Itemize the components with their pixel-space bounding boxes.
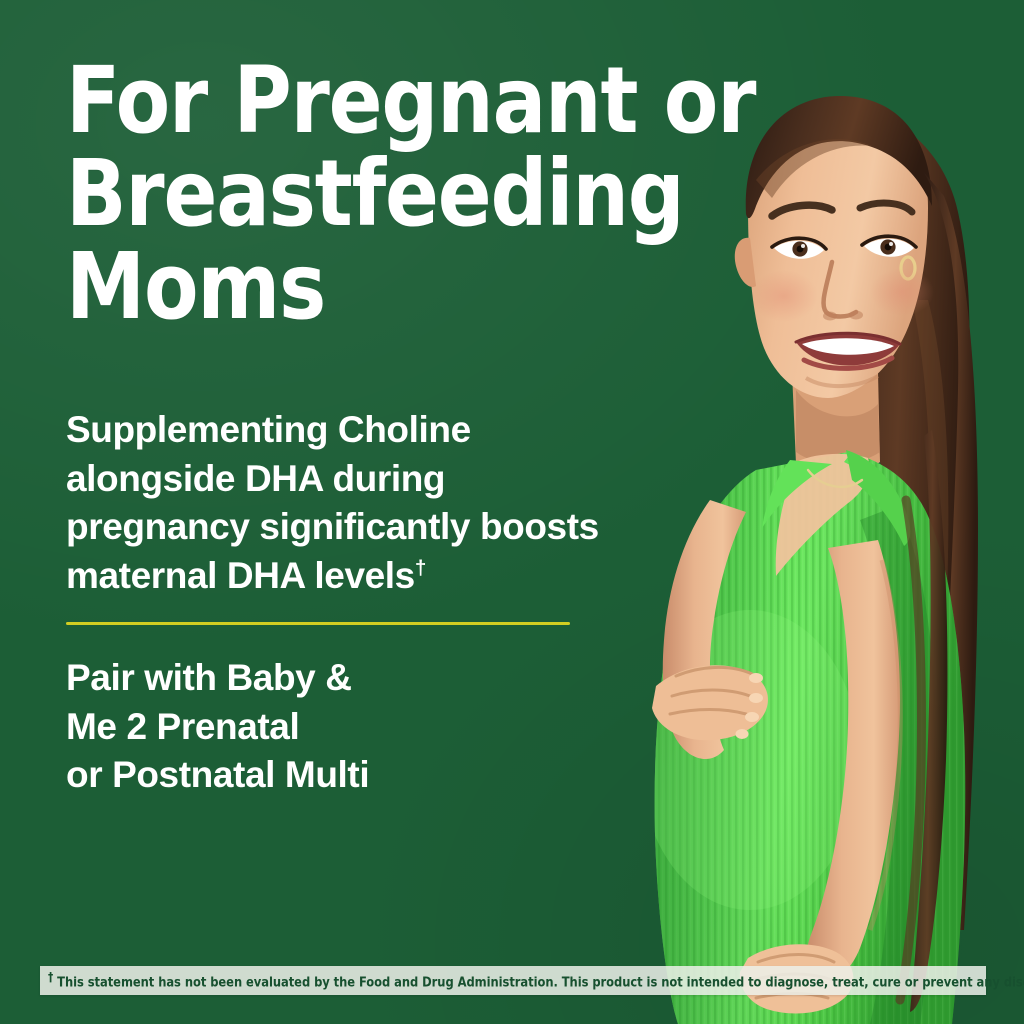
pairing-line-3: or Postnatal Multi [66,754,369,795]
subhead-text: Supplementing Choline alongside DHA duri… [66,409,599,596]
disclaimer-body: This statement has not been evaluated by… [57,976,1024,991]
disclaimer-dagger-icon: † [48,970,53,984]
headline-line-1: For Pregnant or [66,54,834,147]
pairing-line-2: Me 2 Prenatal [66,706,299,747]
headline-line-2: Breastfeeding [66,147,834,240]
footnote-dagger-marker: † [415,556,426,579]
fda-disclaimer-bar: † This statement has not been evaluated … [40,966,986,995]
subhead-claim: Supplementing Choline alongside DHA duri… [66,406,626,600]
disclaimer-text: † This statement has not been evaluated … [48,970,1024,990]
pairing-recommendation: Pair with Baby & Me 2 Prenatal or Postna… [66,654,626,800]
headline-line-3: Moms [66,240,834,333]
promo-banner: For Pregnant or Breastfeeding Moms Suppl… [0,0,1024,1024]
pairing-line-1: Pair with Baby & [66,657,352,698]
page-title: For Pregnant or Breastfeeding Moms [66,54,834,333]
yellow-divider-rule [66,622,570,625]
